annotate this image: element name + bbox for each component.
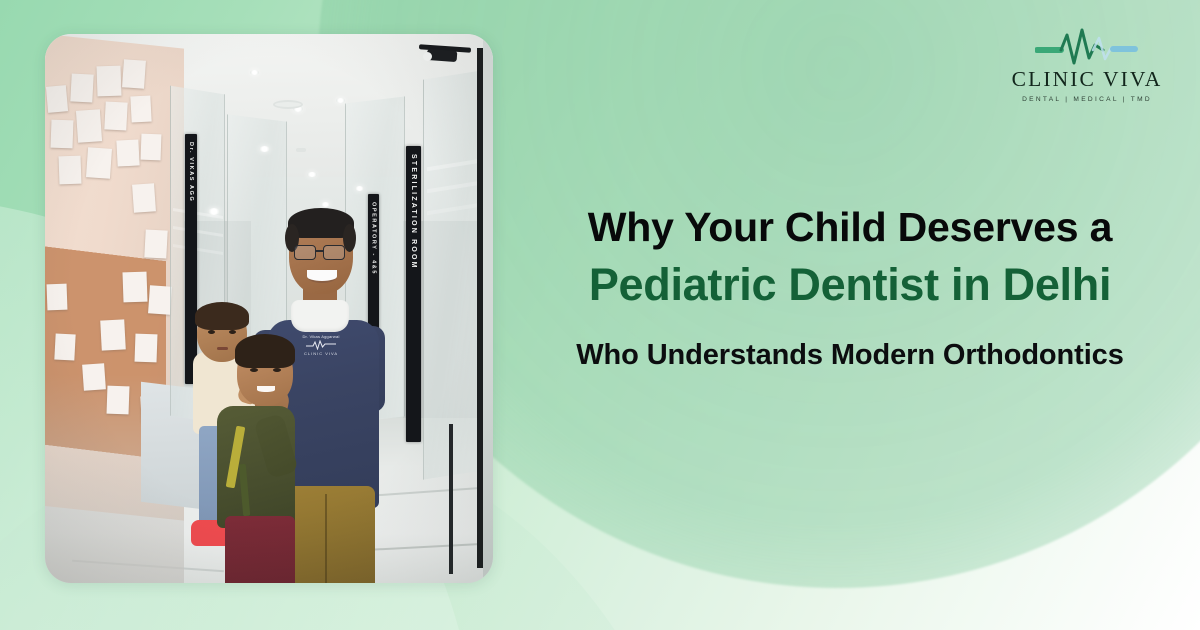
- logo-tagline: DENTAL | MEDICAL | TMD: [1022, 96, 1152, 103]
- headline-line-2: Pediatric Dentist in Delhi: [520, 258, 1180, 312]
- clinic-photo: Dr. VIKAS AGG OPERATORY - 4&5 STERILIZAT…: [45, 34, 493, 583]
- logo-wordmark: CLINIC VIVA: [1012, 69, 1163, 91]
- clinic-viva-logo[interactable]: CLINIC VIVA DENTAL | MEDICAL | TMD: [1002, 28, 1172, 103]
- promotional-banner: Dr. VIKAS AGG OPERATORY - 4&5 STERILIZAT…: [0, 0, 1200, 630]
- headline-subheading: Who Understands Modern Orthodontics: [520, 338, 1180, 373]
- headline-block: Why Your Child Deserves a Pediatric Dent…: [520, 204, 1180, 372]
- photo-vignette: [45, 34, 493, 583]
- headline-line-1: Why Your Child Deserves a: [520, 204, 1180, 252]
- heartbeat-pulse-icon: [1035, 28, 1139, 66]
